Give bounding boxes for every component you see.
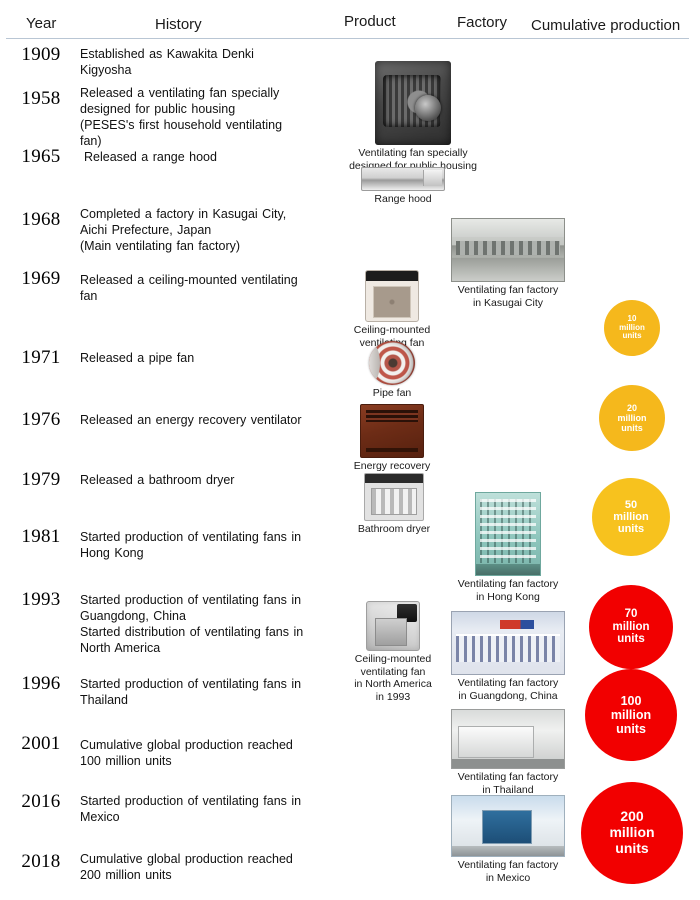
year-2016: 2016: [10, 791, 72, 813]
factory-caption: Ventilating fan factory in Hong Kong: [449, 578, 567, 603]
header-divider: [6, 38, 689, 39]
ceiling-mounted-fan-na-image: [366, 601, 420, 651]
year-1969: 1969: [10, 268, 72, 290]
year-1981: 1981: [10, 526, 72, 548]
history-1965: Released a range hood: [84, 149, 334, 165]
year-1993: 1993: [10, 589, 72, 611]
product-public-housing-fan: Ventilating fan specially designed for p…: [343, 61, 483, 172]
year-1958: 1958: [10, 88, 72, 110]
history-1981: Started production of ventilating fans i…: [80, 529, 330, 561]
production-bubble-20-million: 20 million units: [599, 385, 665, 451]
bubble-unit-line2: units: [618, 523, 644, 535]
product-bathroom-dryer: Bathroom dryer: [345, 473, 443, 536]
column-header-factory: Factory: [457, 14, 507, 31]
bubble-amount: 20: [627, 403, 637, 413]
history-1993: Started production of ventilating fans i…: [80, 592, 330, 656]
history-1996: Started production of ventilating fans i…: [80, 676, 330, 708]
history-1909: Established as Kawakita Denki Kigyosha: [80, 46, 330, 78]
bubble-unit-line2: units: [615, 841, 648, 857]
production-bubble-50-million: 50 million units: [592, 478, 670, 556]
bubble-unit-line2: units: [617, 633, 644, 646]
column-header-history: History: [155, 16, 202, 33]
column-header-year: Year: [26, 15, 56, 32]
column-header-product: Product: [344, 13, 396, 30]
product-caption: Pipe fan: [348, 387, 436, 400]
bubble-unit-line2: units: [622, 332, 641, 341]
bubble-unit-line1: million: [618, 413, 647, 423]
history-1976: Released an energy recovery ventilator: [80, 412, 330, 428]
year-1996: 1996: [10, 673, 72, 695]
history-1958: Released a ventilating fan specially des…: [80, 85, 330, 149]
pipe-fan-image: [369, 341, 415, 385]
product-caption: Range hood: [348, 193, 458, 206]
bubble-amount: 200: [620, 809, 643, 825]
factory-kasugai: Ventilating fan factory in Kasugai City: [449, 218, 567, 309]
bubble-unit-line1: million: [613, 511, 648, 523]
year-1976: 1976: [10, 409, 72, 431]
factory-caption: Ventilating fan factory in Mexico: [449, 859, 567, 884]
bubble-unit-line1: million: [609, 825, 654, 841]
history-1969: Released a ceiling-mounted ventilating f…: [80, 272, 330, 304]
range-hood-image: [361, 167, 445, 191]
year-1909: 1909: [10, 44, 72, 66]
year-1971: 1971: [10, 347, 72, 369]
product-ceiling-fan-north-america: Ceiling-mounted ventilating fan in North…: [338, 601, 448, 703]
bubble-amount: 100: [621, 694, 642, 708]
column-header-cumulative: Cumulative production: [531, 17, 680, 34]
history-2016: Started production of ventilating fans i…: [80, 793, 330, 825]
hong-kong-factory-image: [475, 492, 541, 576]
bubble-unit-line2: units: [616, 722, 646, 736]
production-bubble-10-million: 10 million units: [604, 300, 660, 356]
history-2018: Cumulative global production reached 200…: [80, 851, 330, 883]
year-2001: 2001: [10, 733, 72, 755]
table-header: Year History Product Factory Cumulative …: [0, 0, 700, 38]
product-pipe-fan: Pipe fan: [348, 341, 436, 400]
thailand-factory-image: [451, 709, 565, 769]
history-1971: Released a pipe fan: [80, 350, 330, 366]
kasugai-factory-image: [451, 218, 565, 282]
factory-caption: Ventilating fan factory in Kasugai City: [449, 284, 567, 309]
bubble-unit-line2: units: [621, 423, 643, 433]
production-bubble-100-million: 100 million units: [585, 669, 677, 761]
energy-recovery-ventilator-image: [360, 404, 424, 458]
bubble-unit-line1: million: [612, 621, 649, 634]
bubble-amount: 70: [625, 608, 638, 621]
ventilating-fan-image: [375, 61, 451, 145]
history-1968: Completed a factory in Kasugai City, Aic…: [80, 206, 330, 254]
bubble-amount: 50: [625, 499, 637, 511]
bubble-unit-line1: million: [611, 708, 651, 722]
product-caption: Ceiling-mounted ventilating fan in North…: [338, 653, 448, 703]
bathroom-dryer-image: [364, 473, 424, 521]
year-1979: 1979: [10, 469, 72, 491]
product-ceiling-mounted-fan: Ceiling-mounted ventilating fan: [338, 270, 446, 349]
product-caption: Bathroom dryer: [345, 523, 443, 536]
factory-mexico: Ventilating fan factory in Mexico: [449, 795, 567, 884]
product-range-hood: Range hood: [348, 167, 458, 206]
mexico-factory-image: [451, 795, 565, 857]
factory-guangdong: Ventilating fan factory in Guangdong, Ch…: [449, 611, 567, 702]
factory-caption: Ventilating fan factory in Guangdong, Ch…: [449, 677, 567, 702]
year-1965: 1965: [10, 146, 72, 168]
history-1979: Released a bathroom dryer: [80, 472, 330, 488]
production-bubble-200-million: 200 million units: [581, 782, 683, 884]
year-1968: 1968: [10, 209, 72, 231]
production-bubble-70-million: 70 million units: [589, 585, 673, 669]
year-2018: 2018: [10, 851, 72, 873]
guangdong-factory-image: [451, 611, 565, 675]
factory-thailand: Ventilating fan factory in Thailand: [449, 709, 567, 796]
ceiling-mounted-fan-image: [365, 270, 419, 322]
factory-caption: Ventilating fan factory in Thailand: [449, 771, 567, 796]
history-2001: Cumulative global production reached 100…: [80, 737, 330, 769]
factory-hong-kong: Ventilating fan factory in Hong Kong: [449, 492, 567, 603]
